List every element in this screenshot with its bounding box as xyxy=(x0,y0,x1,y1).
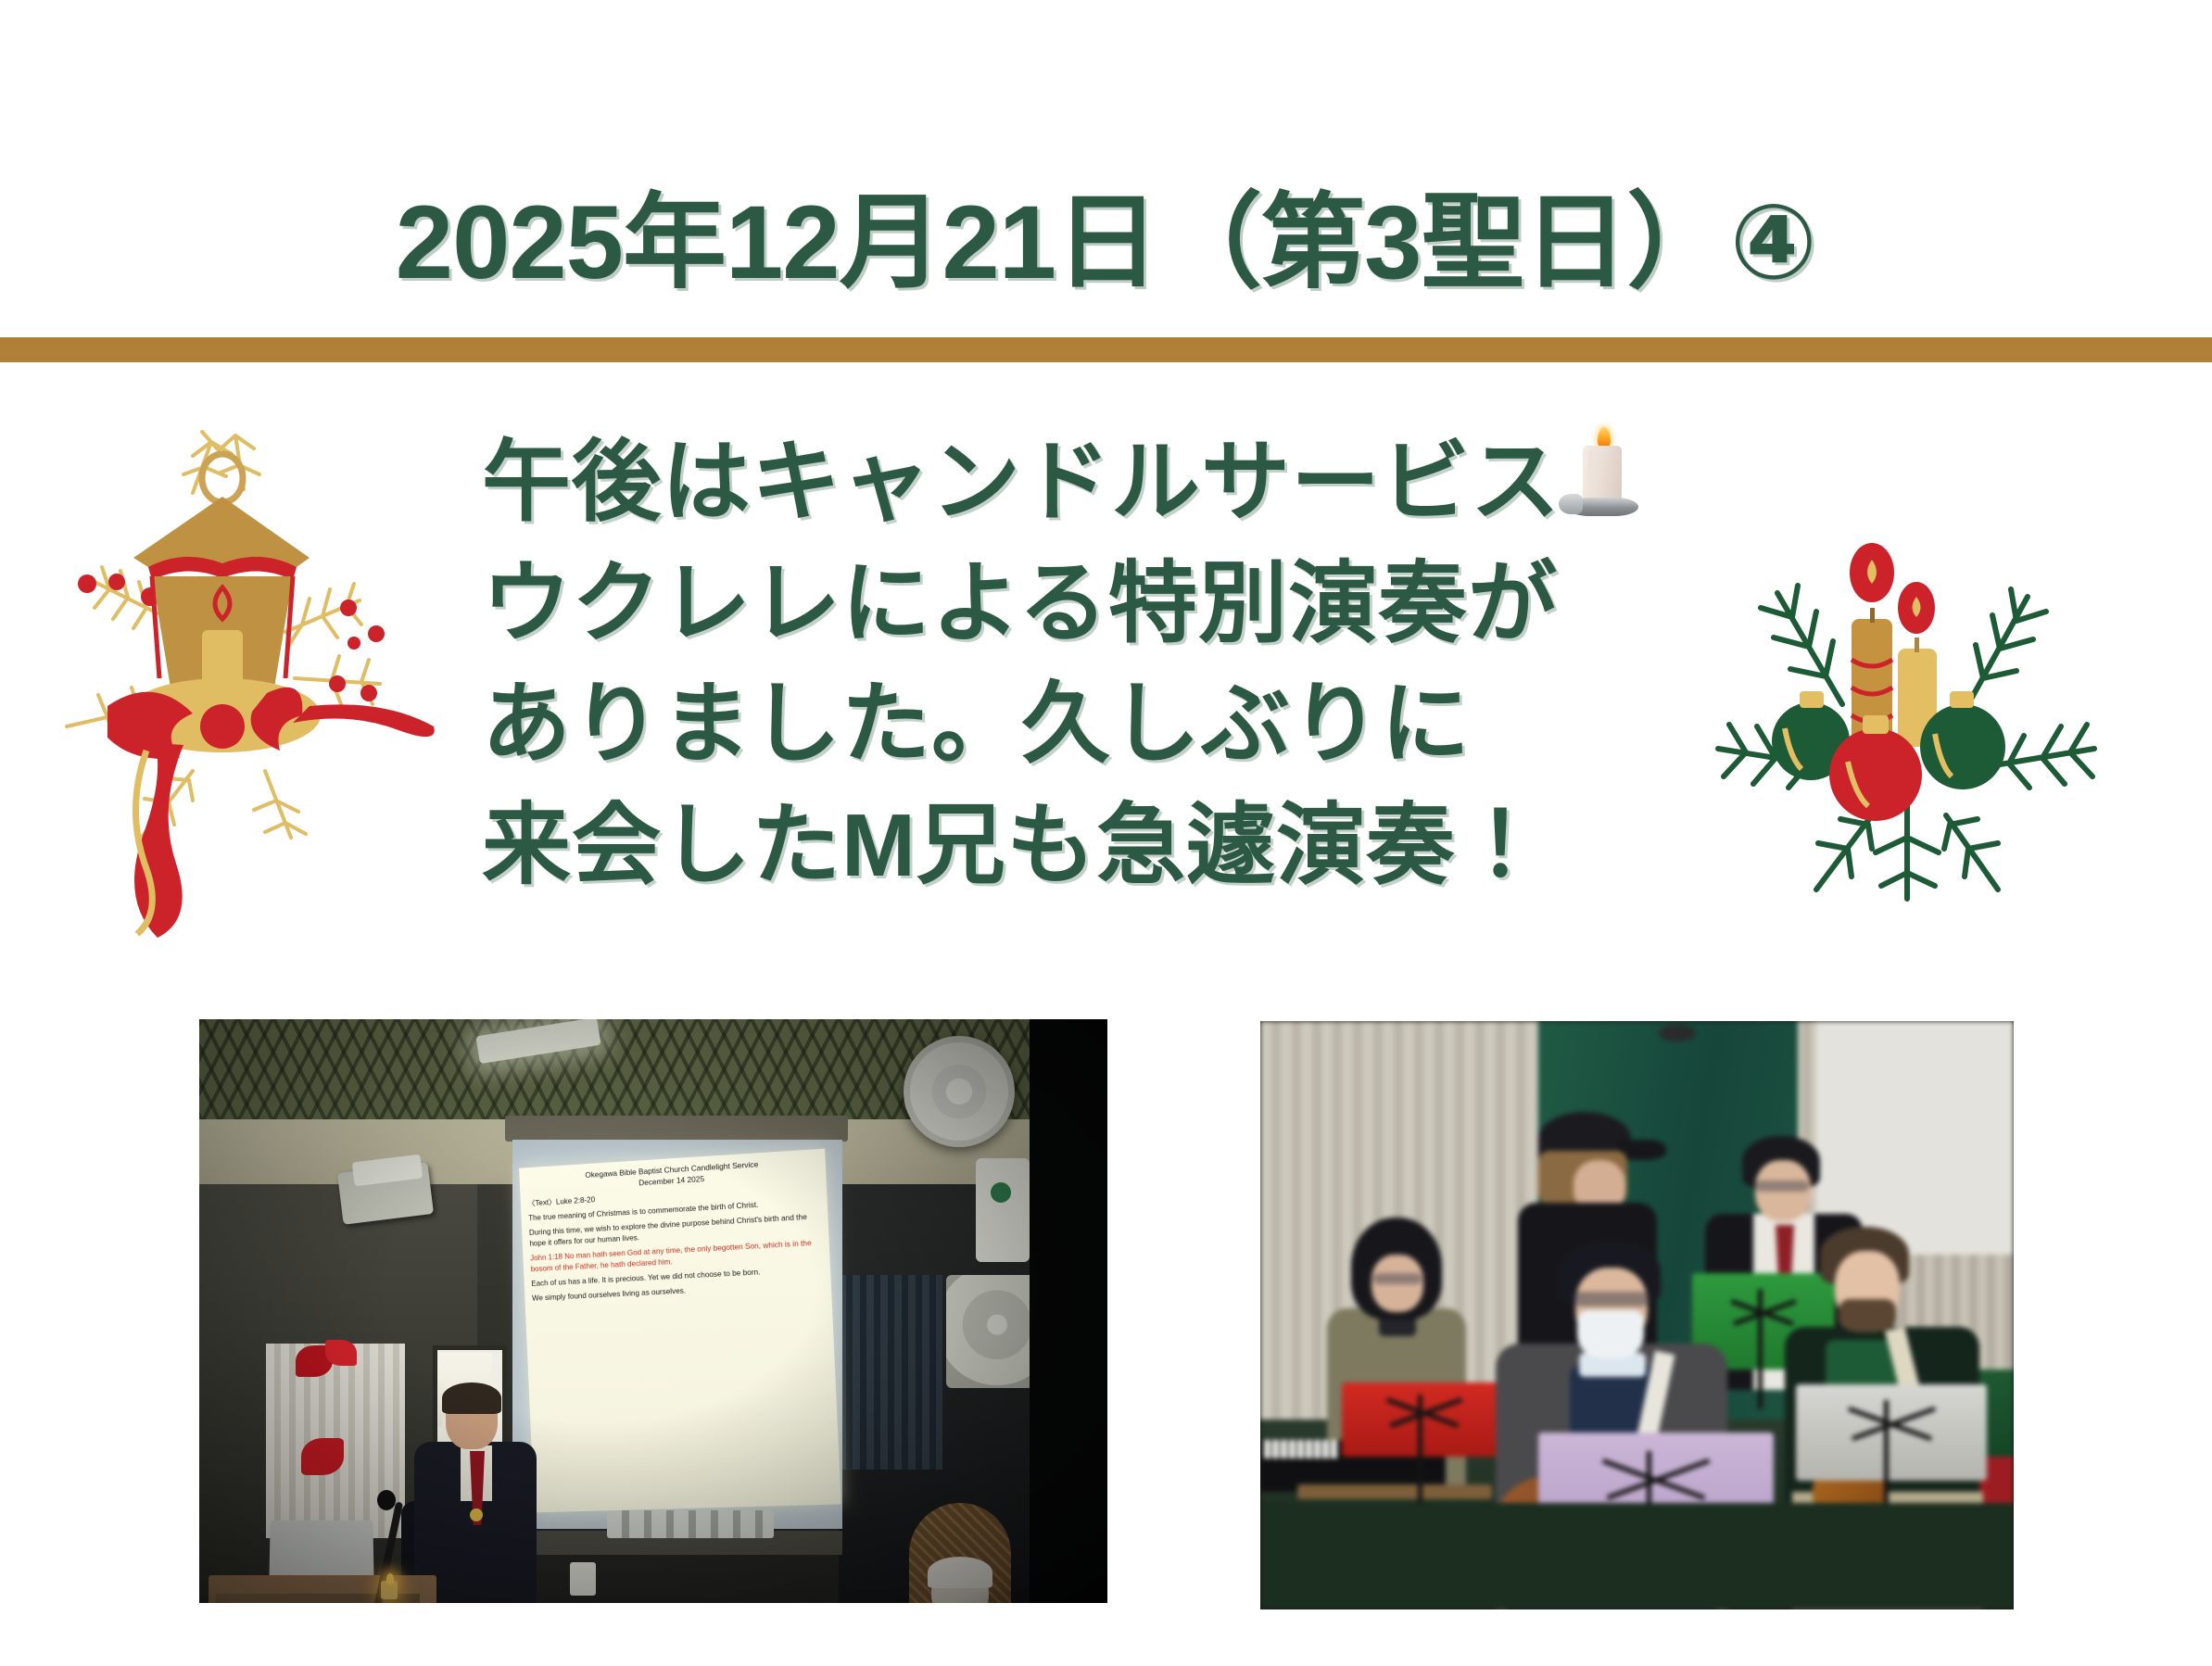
body-line-2: ウクレレによる特別演奏が xyxy=(482,544,1705,665)
body-line-1-text: 午後はキャンドルサービス xyxy=(482,433,1561,532)
title-zone: 2025年12月21日（第3聖日）④ xyxy=(0,0,2212,338)
ukulele-special-performance-photo xyxy=(1260,1021,2014,1609)
face-mask xyxy=(1577,1310,1644,1358)
music-stand-red xyxy=(1342,1382,1507,1457)
body-line-3: ありました。久しぶりに xyxy=(482,664,1705,786)
gold-divider-rule xyxy=(0,337,2212,362)
music-stand-gray xyxy=(1796,1384,1987,1481)
christmas-candles-ornaments-icon xyxy=(1713,519,2102,908)
candlelight-service-photo: Okegawa Bible Baptist Church Candlelight… xyxy=(199,1019,1107,1603)
slide-root: 2025年12月21日（第3聖日）④ xyxy=(0,0,2212,1666)
body-line-4: 来会したM兄も急遽演奏！ xyxy=(482,786,1705,907)
body-line-1: 午後はキャンドルサービス xyxy=(482,422,1705,544)
body-text-block: 午後はキャンドルサービス ウクレレによる特別演奏が ありました。久しぶりに 来会… xyxy=(482,422,1705,906)
christmas-lantern-icon xyxy=(54,400,443,947)
page-title: 2025年12月21日（第3聖日）④ xyxy=(0,182,2212,304)
candle-icon xyxy=(1561,422,1646,518)
